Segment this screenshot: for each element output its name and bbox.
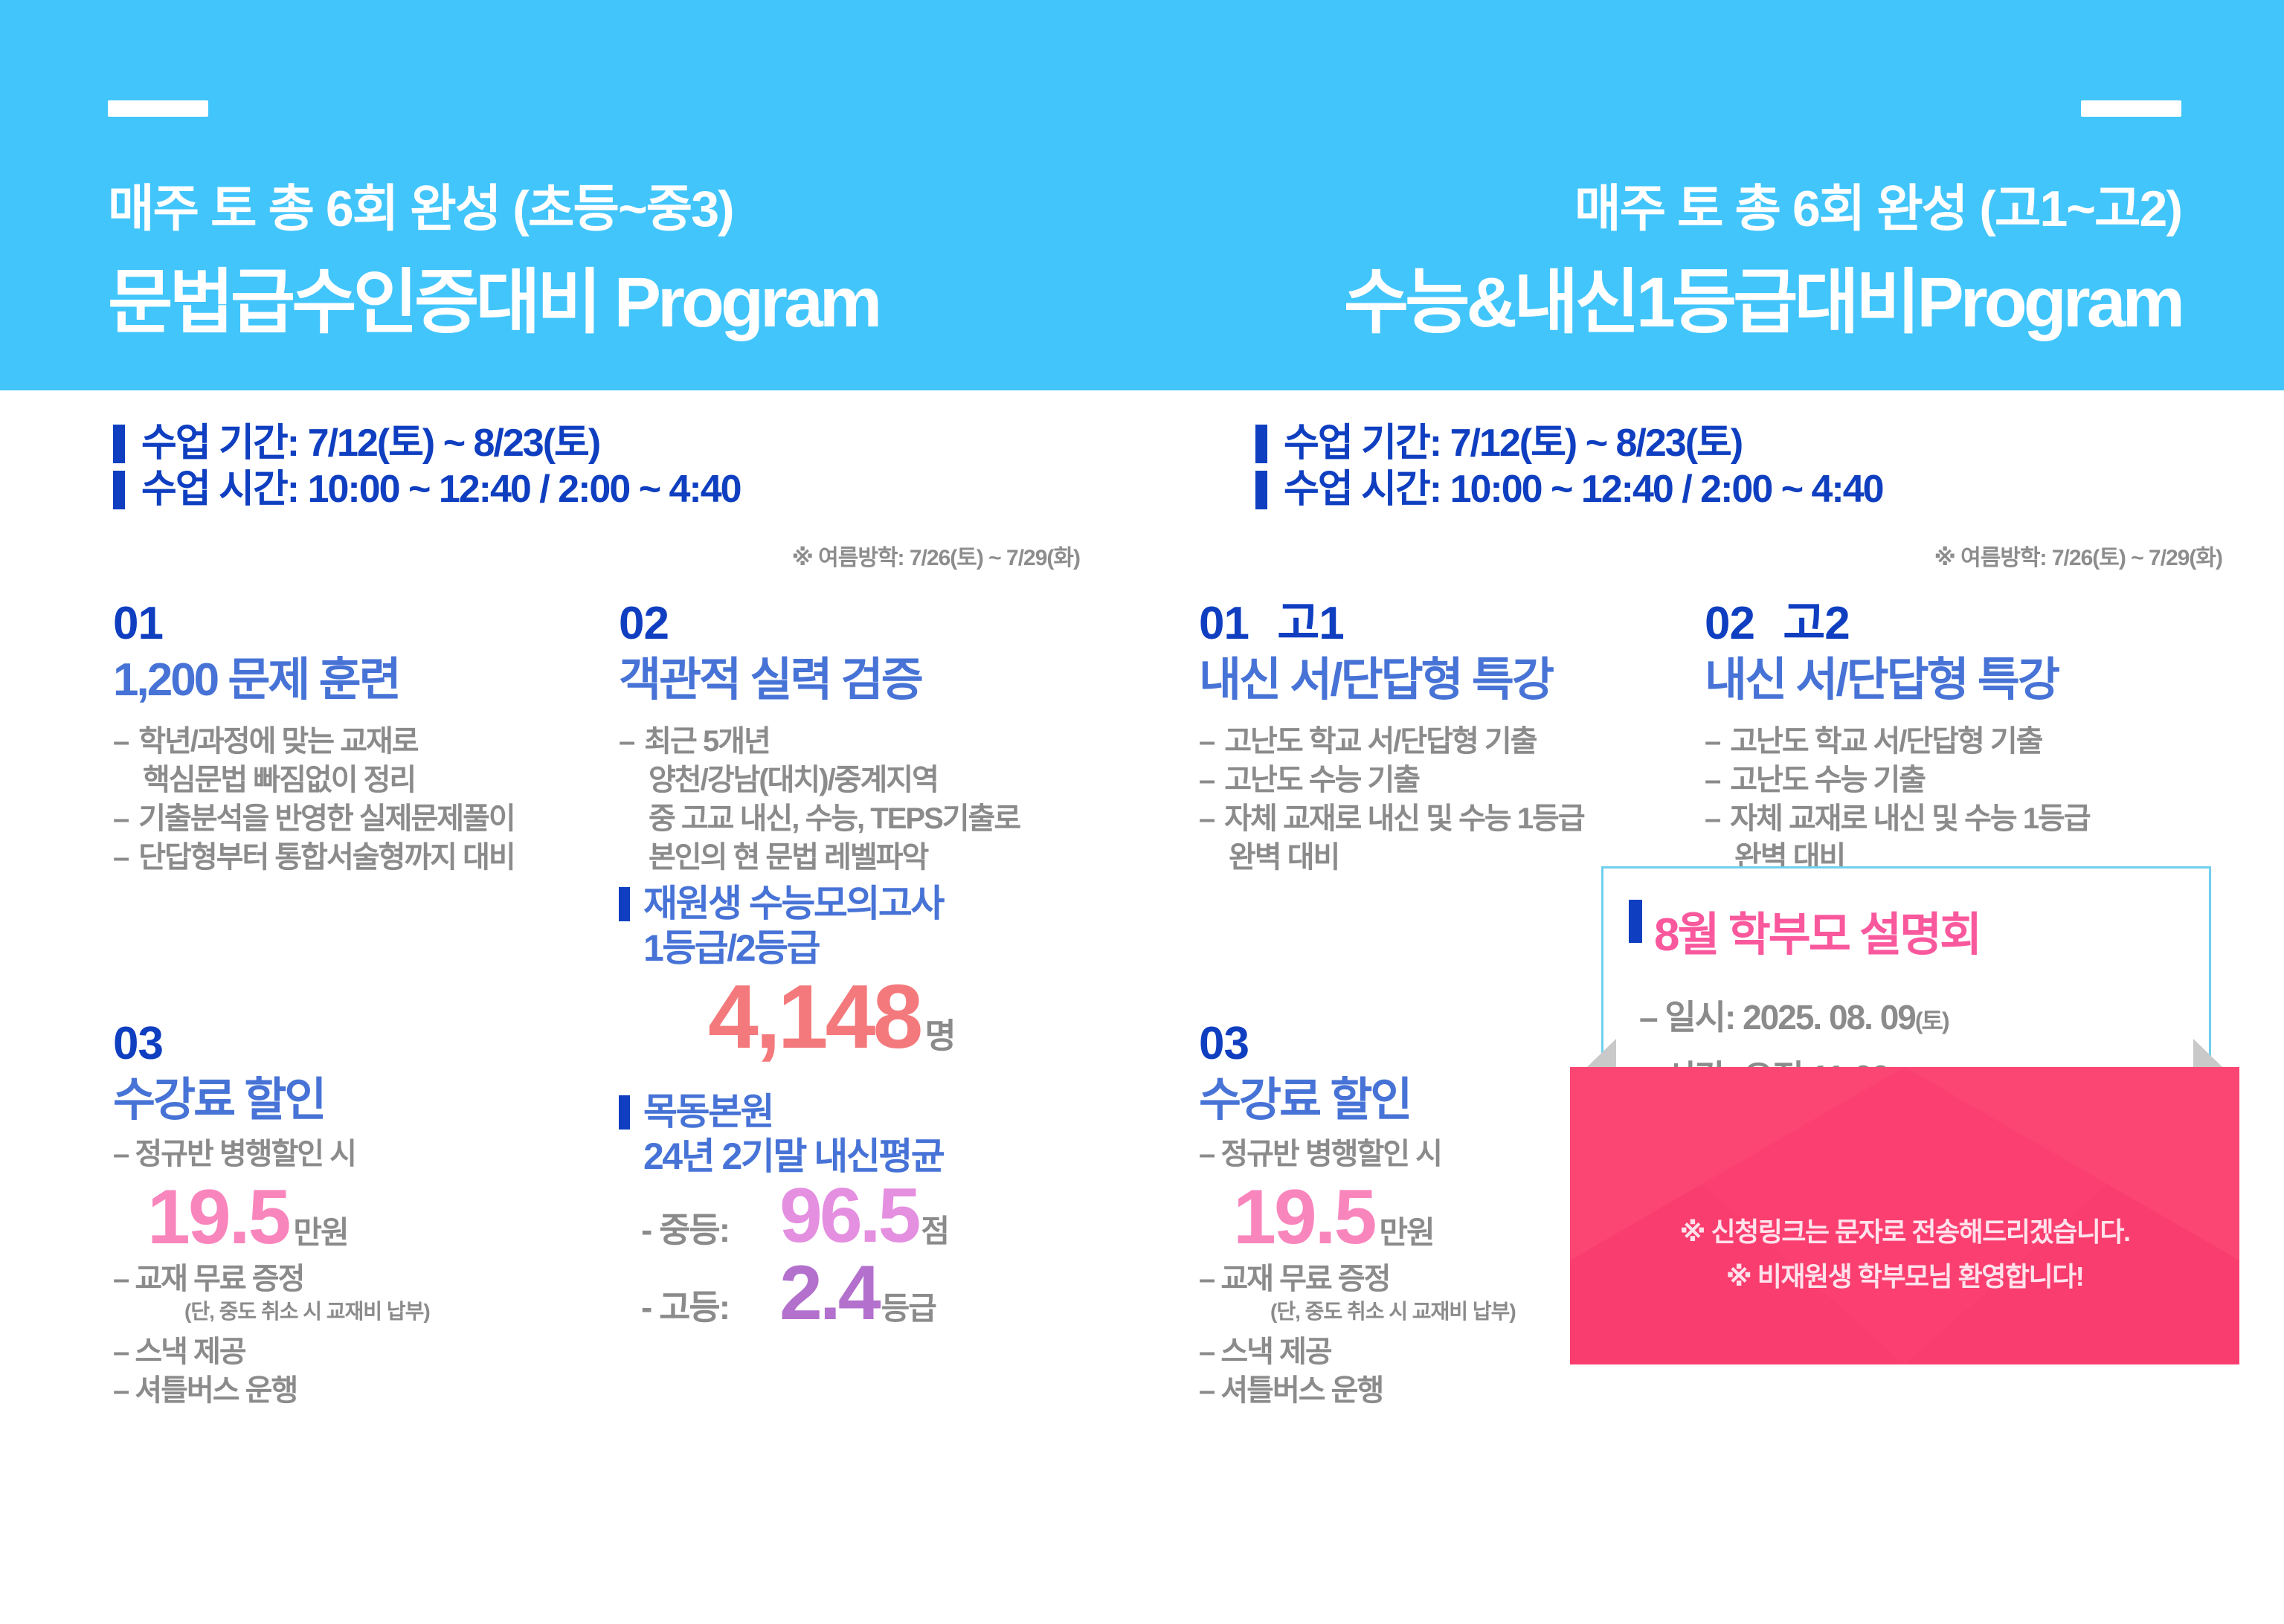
envelope-notes: ※ 신청링크는 문자로 전송해드리겠습니다. ※ 비재원생 학부모님 환영합니다… [1570, 1210, 2239, 1299]
left-stat-mock-exam-unit: 명 [924, 1009, 954, 1058]
header-right: 매주 토 총 6회 완성 (고1~고2) 수능&내신1등급대비Program [1142, 0, 2284, 390]
list-item: – 교재 무료 증정 [113, 1260, 530, 1298]
right-schedule-time: 수업 시간: 10:00 ~ 12:40 / 2:00 ~ 4:40 [1284, 466, 1883, 512]
right-feature-01-grade: 고1 [1277, 598, 1344, 649]
left-stat-mock-exam-title-2: 1등급/2등급 [643, 926, 943, 970]
list-item: 중 고교 내신, 수능, TEPS기출로 [619, 799, 1095, 838]
right-discount-price: 19.5 만원 [1199, 1176, 1615, 1258]
right-feature-03-title: 수강료 할인 [1199, 1072, 1615, 1129]
left-stat-school-average-head: 목동본원 24년 2기말 내신평균 [619, 1089, 1110, 1179]
stat-row-value: 96.5 [779, 1176, 918, 1256]
left-stat-mock-exam: 재원생 수능모의고사 1등급/2등급 4,148 명 [619, 881, 1110, 1063]
list-item: – 스낵 제공 [113, 1333, 530, 1371]
table-row: - 고등: 2.4 등급 [619, 1253, 1110, 1333]
envelope-note-2: ※ 비재원생 학부모님 환영합니다! [1570, 1254, 2239, 1299]
right-schedule-block: 수업 기간: 7/12(토) ~ 8/23(토) 수업 시간: 10:00 ~ … [1255, 420, 1883, 512]
right-feature-02-title: 내신 서/단답형 특강 [1705, 652, 2225, 709]
parent-session-date-suffix: (토) [1915, 1008, 1949, 1034]
right-feature-01: 01 고1 내신 서/단답형 특강 – 고난도 학교 서/단답형 기출 – 고난… [1199, 599, 1705, 877]
left-feature-03-title: 수강료 할인 [113, 1072, 530, 1129]
list-item: – 교재 무료 증정 [1199, 1260, 1615, 1298]
list-item-text: – 교재 무료 증정 [1199, 1260, 1389, 1298]
right-feature-02: 02 고2 내신 서/단답형 특강 – 고난도 학교 서/단답형 기출 – 고난… [1705, 599, 2225, 877]
list-item-text: 완벽 대비 [1229, 838, 1339, 877]
list-item-text: 고난도 수능 기출 [1224, 761, 1419, 799]
left-feature-02-list: – 최근 5개년 양천/강남(대치)/중계지역 중 고교 내신, 수능, TEP… [619, 722, 1095, 877]
header-left-subtitle: 매주 토 총 6회 완성 (초등~중3) [108, 167, 733, 241]
bullet-dash-icon: – [113, 838, 128, 877]
header-left-title: 문법급수인증대비 Program [108, 245, 878, 347]
list-item-text: 기출분석을 반영한 실제문제풀이 [138, 799, 514, 838]
list-item: – 고난도 수능 기출 [1705, 761, 2225, 799]
list-item: 양천/강남(대치)/중계지역 [619, 761, 1095, 799]
left-stat-mock-exam-title-1: 재원생 수능모의고사 [643, 881, 943, 926]
list-item-text: – 정규반 병행할인 시 [113, 1135, 356, 1173]
bullet-dash-icon: – [1199, 722, 1214, 761]
right-feature-02-grade: 고2 [1783, 598, 1850, 649]
list-item-text: 핵심문법 빠짐없이 정리 [143, 761, 415, 799]
list-item: – 단답형부터 통합서술형까지 대비 [113, 838, 530, 877]
parent-session-title-row: 8월 학부모 설명회 [1603, 869, 2209, 964]
right-feature-01-list: – 고난도 학교 서/단답형 기출 – 고난도 수능 기출 – 자체 교재로 내… [1199, 722, 1705, 877]
envelope-note-1: ※ 신청링크는 문자로 전송해드리겠습니다. [1570, 1210, 2239, 1254]
list-item: – 최근 5개년 [619, 722, 1095, 761]
right-feature-02-number: 02 [1705, 598, 1754, 649]
bullet-dash-icon: – [1705, 761, 1720, 799]
left-stat-school-average-title-1: 목동본원 [643, 1089, 943, 1134]
left-stat-school-average-title-2: 24년 2기말 내신평균 [643, 1134, 943, 1179]
left-discount-price: 19.5 만원 [113, 1176, 530, 1258]
list-item: – 학년/과정에 맞는 교재로 [113, 722, 530, 761]
left-feature-03-number: 03 [113, 1019, 530, 1069]
left-stat-mock-exam-head: 재원생 수능모의고사 1등급/2등급 [619, 881, 1110, 970]
left-stat-mock-exam-value: 4,148 [708, 970, 920, 1063]
left-feature-02-number: 02 [619, 599, 1095, 649]
stat-row-label: - 고등: [641, 1280, 779, 1330]
list-item: – 셔틀버스 운행 [113, 1371, 530, 1410]
list-item-text: 학년/과정에 맞는 교재로 [138, 722, 417, 761]
list-item-text: 자체 교재로 내신 및 수능 1등급 [1730, 799, 2089, 838]
discount-price-unit: 만원 [1379, 1208, 1433, 1253]
parent-session-date: – 일시: 2025. 08. 09(토) [1639, 989, 2209, 1049]
left-feature-03-discount: 03 수강료 할인 – 정규반 병행할인 시 19.5 만원 – 교재 무료 증… [113, 1019, 530, 1410]
bullet-dash-icon: – [1705, 722, 1720, 761]
accent-bar-icon [1255, 425, 1267, 463]
bullet-dash-icon: – [113, 722, 128, 761]
list-item: – 고난도 수능 기출 [1199, 761, 1705, 799]
right-schedule-note: ※ 여름방학: 7/26(토) ~ 7/29(화) [1255, 539, 2222, 572]
right-discount-note: (단, 중도 취소 시 교재비 납부) [1199, 1298, 1615, 1325]
list-item-text: – 셔틀버스 운행 [113, 1371, 297, 1410]
discount-price-value: 19.5 [1233, 1176, 1374, 1258]
discount-price-unit: 만원 [293, 1208, 347, 1253]
bullet-dash-icon: – [619, 722, 634, 761]
list-item-text: 본인의 현 문법 레벨파악 [649, 838, 927, 877]
left-stat-school-average: 목동본원 24년 2기말 내신평균 - 중등: 96.5 점 - 고등: 2.4… [619, 1089, 1110, 1333]
list-item-text: – 셔틀버스 운행 [1199, 1371, 1383, 1410]
accent-bar-icon [113, 425, 125, 463]
header-right-title: 수능&내신1등급대비Program [1344, 245, 2181, 347]
right-feature-03-discount: 03 수강료 할인 – 정규반 병행할인 시 19.5 만원 – 교재 무료 증… [1199, 1019, 1615, 1410]
bullet-dash-icon: – [1199, 799, 1214, 838]
header-right-subtitle: 매주 토 총 6회 완성 (고1~고2) [1574, 167, 2181, 241]
right-schedule-period: 수업 기간: 7/12(토) ~ 8/23(토) [1284, 420, 1742, 466]
list-item-text: 고난도 수능 기출 [1730, 761, 1925, 799]
bullet-dash-icon: – [1199, 761, 1214, 799]
right-feature-01-title: 내신 서/단답형 특강 [1199, 652, 1705, 709]
left-feature-01-title: 1,200 문제 훈련 [113, 652, 530, 709]
list-item-text: 중 고교 내신, 수능, TEPS기출로 [649, 799, 1020, 838]
list-item: – 스낵 제공 [1199, 1333, 1615, 1371]
accent-bar-icon [619, 1095, 630, 1130]
header-band: 매주 토 총 6회 완성 (초등~중3) 문법급수인증대비 Program 매주… [0, 0, 2284, 390]
list-item-text: – 교재 무료 증정 [113, 1260, 303, 1298]
right-schedule-period-row: 수업 기간: 7/12(토) ~ 8/23(토) [1255, 420, 1883, 466]
parent-session-title: 8월 학부모 설명회 [1654, 897, 1980, 964]
left-discount-note: (단, 중도 취소 시 교재비 납부) [113, 1298, 530, 1325]
poster-root: 매주 토 총 6회 완성 (초등~중3) 문법급수인증대비 Program 매주… [0, 0, 2284, 1624]
header-left: 매주 토 총 6회 완성 (초등~중3) 문법급수인증대비 Program [0, 0, 1142, 390]
list-item: – 기출분석을 반영한 실제문제풀이 [113, 799, 530, 838]
right-program-column: 수업 기간: 7/12(토) ~ 8/23(토) 수업 시간: 10:00 ~ … [1142, 390, 2284, 1624]
list-item-text: 자체 교재로 내신 및 수능 1등급 [1224, 799, 1583, 838]
list-item: – 고난도 학교 서/단답형 기출 [1705, 722, 2225, 761]
left-schedule-block: 수업 기간: 7/12(토) ~ 8/23(토) 수업 시간: 10:00 ~ … [113, 420, 741, 512]
left-schedule-note: ※ 여름방학: 7/26(토) ~ 7/29(화) [113, 539, 1080, 572]
right-schedule-time-row: 수업 시간: 10:00 ~ 12:40 / 2:00 ~ 4:40 [1255, 466, 1883, 512]
accent-bar-icon [1255, 471, 1267, 509]
list-item: – 정규반 병행할인 시 [113, 1135, 530, 1173]
left-program-column: 수업 기간: 7/12(토) ~ 8/23(토) 수업 시간: 10:00 ~ … [0, 390, 1142, 1624]
right-feature-01-number-row: 01 고1 [1199, 599, 1705, 649]
left-stat-mock-exam-value-row: 4,148 명 [619, 970, 1110, 1063]
right-feature-03-number: 03 [1199, 1019, 1615, 1069]
left-feature-01: 01 1,200 문제 훈련 – 학년/과정에 맞는 교재로 핵심문법 빠짐없이… [113, 599, 530, 877]
parent-session-envelope: 8월 학부모 설명회 – 일시: 2025. 08. 09(토) – 시간: 오… [1570, 866, 2239, 1364]
list-item: – 고난도 학교 서/단답형 기출 [1199, 722, 1705, 761]
list-item-text: 고난도 학교 서/단답형 기출 [1730, 722, 2042, 761]
list-item-text: – 스낵 제공 [1199, 1333, 1331, 1371]
list-item: 핵심문법 빠짐없이 정리 [113, 761, 530, 799]
right-feature-02-number-row: 02 고2 [1705, 599, 2225, 649]
parent-session-date-text: – 일시: 2025. 08. 09 [1639, 998, 1915, 1037]
stat-row-unit: 점 [921, 1206, 948, 1251]
accent-bar-icon [113, 471, 125, 509]
bullet-dash-icon: – [1705, 799, 1720, 838]
list-item: 본인의 현 문법 레벨파악 [619, 838, 1095, 877]
accent-bar-icon [619, 887, 630, 921]
left-schedule-period: 수업 기간: 7/12(토) ~ 8/23(토) [141, 420, 599, 466]
dash-mark-left-icon [108, 100, 208, 117]
left-feature-02-title: 객관적 실력 검증 [619, 652, 1095, 709]
accent-bar-icon [1629, 900, 1642, 943]
dash-mark-right-icon [2081, 100, 2181, 117]
right-feature-01-number: 01 [1199, 598, 1249, 649]
envelope-graphic: ※ 신청링크는 문자로 전송해드리겠습니다. ※ 비재원생 학부모님 환영합니다… [1570, 1067, 2239, 1364]
right-feature-02-list: – 고난도 학교 서/단답형 기출 – 고난도 수능 기출 – 자체 교재로 내… [1705, 722, 2225, 877]
left-schedule-time-row: 수업 시간: 10:00 ~ 12:40 / 2:00 ~ 4:40 [113, 466, 741, 512]
table-row: - 중등: 96.5 점 [619, 1176, 1110, 1256]
list-item: – 자체 교재로 내신 및 수능 1등급 [1199, 799, 1705, 838]
list-item-text: 고난도 학교 서/단답형 기출 [1224, 722, 1536, 761]
list-item-text: 최근 5개년 [644, 722, 770, 761]
list-item: – 셔틀버스 운행 [1199, 1371, 1615, 1410]
list-item-text: – 정규반 병행할인 시 [1199, 1135, 1441, 1173]
left-schedule-time: 수업 시간: 10:00 ~ 12:40 / 2:00 ~ 4:40 [141, 466, 741, 512]
list-item: – 정규반 병행할인 시 [1199, 1135, 1615, 1173]
list-item-text: – 스낵 제공 [113, 1333, 245, 1371]
left-feature-02: 02 객관적 실력 검증 – 최근 5개년 양천/강남(대치)/중계지역 중 고… [619, 599, 1095, 877]
list-item-text: 단답형부터 통합서술형까지 대비 [138, 838, 514, 877]
bullet-dash-icon: – [113, 799, 128, 838]
list-item-text: 양천/강남(대치)/중계지역 [649, 761, 938, 799]
list-item: – 자체 교재로 내신 및 수능 1등급 [1705, 799, 2225, 838]
stat-row-label: - 중등: [641, 1203, 779, 1252]
stat-row-unit: 등급 [881, 1283, 936, 1329]
left-feature-01-number: 01 [113, 599, 530, 649]
stat-row-value: 2.4 [779, 1253, 878, 1333]
left-feature-01-list: – 학년/과정에 맞는 교재로 핵심문법 빠짐없이 정리 – 기출분석을 반영한… [113, 722, 530, 877]
left-schedule-period-row: 수업 기간: 7/12(토) ~ 8/23(토) [113, 420, 741, 466]
discount-price-value: 19.5 [147, 1176, 289, 1258]
